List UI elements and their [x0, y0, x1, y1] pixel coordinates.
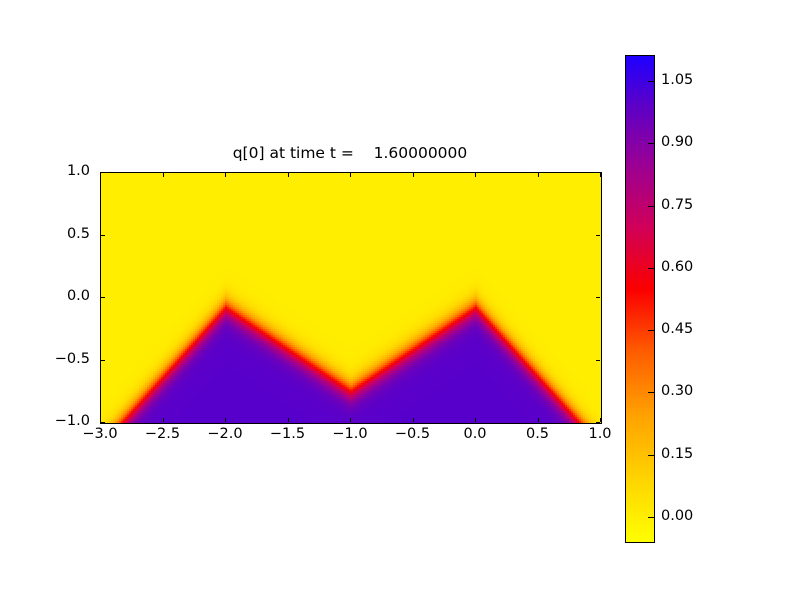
colorbar-tick — [648, 81, 654, 82]
colorbar-tick-label: 0.15 — [661, 446, 693, 462]
x-tick — [163, 418, 164, 422]
colorbar-tick — [648, 268, 654, 269]
y-tick-right — [596, 172, 600, 173]
x-tick — [475, 418, 476, 422]
x-tick-top — [350, 173, 351, 177]
y-tick-label: 0.0 — [30, 288, 90, 304]
y-tick — [101, 172, 105, 173]
x-tick-top — [100, 173, 101, 177]
colorbar-tick-label: 0.00 — [661, 508, 693, 524]
colorbar-tick — [648, 517, 654, 518]
x-tick — [538, 418, 539, 422]
x-tick — [413, 418, 414, 422]
main-axes — [100, 172, 602, 424]
x-tick-label: −0.5 — [383, 426, 443, 442]
y-tick-right — [596, 360, 600, 361]
colorbar-tick — [648, 206, 654, 207]
x-tick-top — [600, 173, 601, 177]
colorbar-tick — [648, 392, 654, 393]
x-tick-label: −1.5 — [258, 426, 318, 442]
colorbar-tick — [648, 143, 654, 144]
x-tick — [600, 418, 601, 422]
colorbar-tick-label: 0.90 — [661, 134, 693, 150]
y-tick-label: −0.5 — [30, 351, 90, 367]
x-tick-label: −2.5 — [133, 426, 193, 442]
colorbar-tick-label: 1.05 — [661, 72, 693, 88]
y-tick — [101, 360, 105, 361]
y-tick — [101, 235, 105, 236]
x-tick-label: −1.0 — [320, 426, 380, 442]
x-tick-top — [475, 173, 476, 177]
colorbar-tick — [648, 330, 654, 331]
colorbar-tick-label: 0.45 — [661, 321, 693, 337]
y-tick-right — [596, 235, 600, 236]
matplotlib-figure: q[0] at time t = 1.60000000 −3.0−2.5−2.0… — [0, 0, 800, 600]
y-tick-label: 1.0 — [30, 163, 90, 179]
colorbar-tick — [648, 455, 654, 456]
x-tick-top — [538, 173, 539, 177]
x-tick — [288, 418, 289, 422]
plot-title: q[0] at time t = 1.60000000 — [100, 144, 600, 162]
y-tick-right — [596, 297, 600, 298]
colorbar-tick-label: 0.30 — [661, 383, 693, 399]
x-tick — [350, 418, 351, 422]
x-tick-top — [288, 173, 289, 177]
colorbar-tick-label: 0.75 — [661, 197, 693, 213]
colorbar-gradient — [625, 55, 655, 543]
colorbar-canvas — [626, 56, 654, 542]
y-tick-label: −1.0 — [30, 413, 90, 429]
x-tick-label: 1.0 — [570, 426, 630, 442]
y-tick-label: 0.5 — [30, 226, 90, 242]
y-tick-right — [596, 422, 600, 423]
x-tick-label: 0.5 — [508, 426, 568, 442]
colorbar-tick-label: 0.60 — [661, 259, 693, 275]
heatmap-field — [101, 173, 601, 423]
y-tick — [101, 297, 105, 298]
y-tick — [101, 422, 105, 423]
x-tick-top — [225, 173, 226, 177]
x-tick — [225, 418, 226, 422]
x-tick-label: −2.0 — [195, 426, 255, 442]
x-tick-top — [413, 173, 414, 177]
colorbar: 0.000.150.300.450.600.750.901.05 — [625, 55, 655, 543]
x-tick-top — [163, 173, 164, 177]
x-tick-label: 0.0 — [445, 426, 505, 442]
